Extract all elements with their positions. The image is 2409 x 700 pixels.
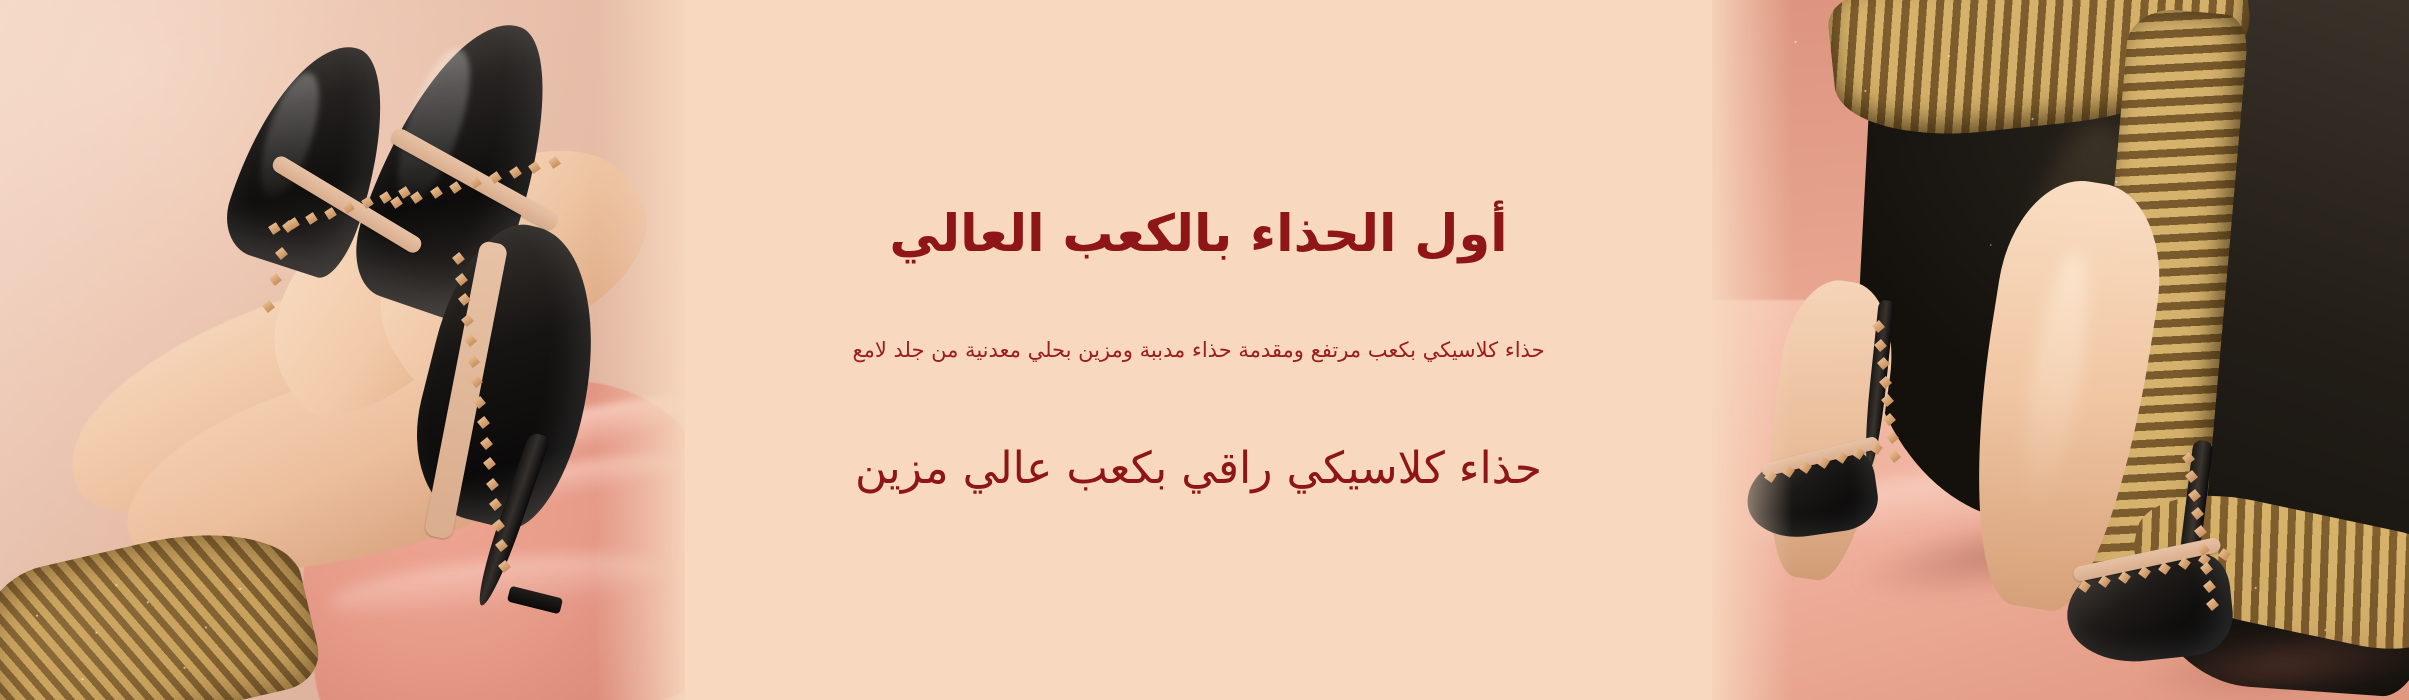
product-banner: أول الحذاء بالكعب العالي حذاء كلاسيكي بك… [0, 0, 2409, 700]
text-stack: أول الحذاء بالكعب العالي حذاء كلاسيكي بك… [685, 203, 1712, 497]
banner-subtitle: حذاء كلاسيكي بكعب مرتفع ومقدمة حذاء مدبب… [685, 335, 1712, 367]
banner-headline: أول الحذاء بالكعب العالي [685, 203, 1712, 267]
right-edge-fade [1712, 0, 1792, 700]
left-product-image [0, 0, 685, 700]
banner-tagline: حذاء كلاسيكي راقي بكعب عالي مزين [685, 440, 1712, 497]
banner-text-panel: أول الحذاء بالكعب العالي حذاء كلاسيكي بك… [685, 0, 1712, 700]
left-edge-fade [595, 0, 685, 700]
right-product-image [1712, 0, 2409, 700]
